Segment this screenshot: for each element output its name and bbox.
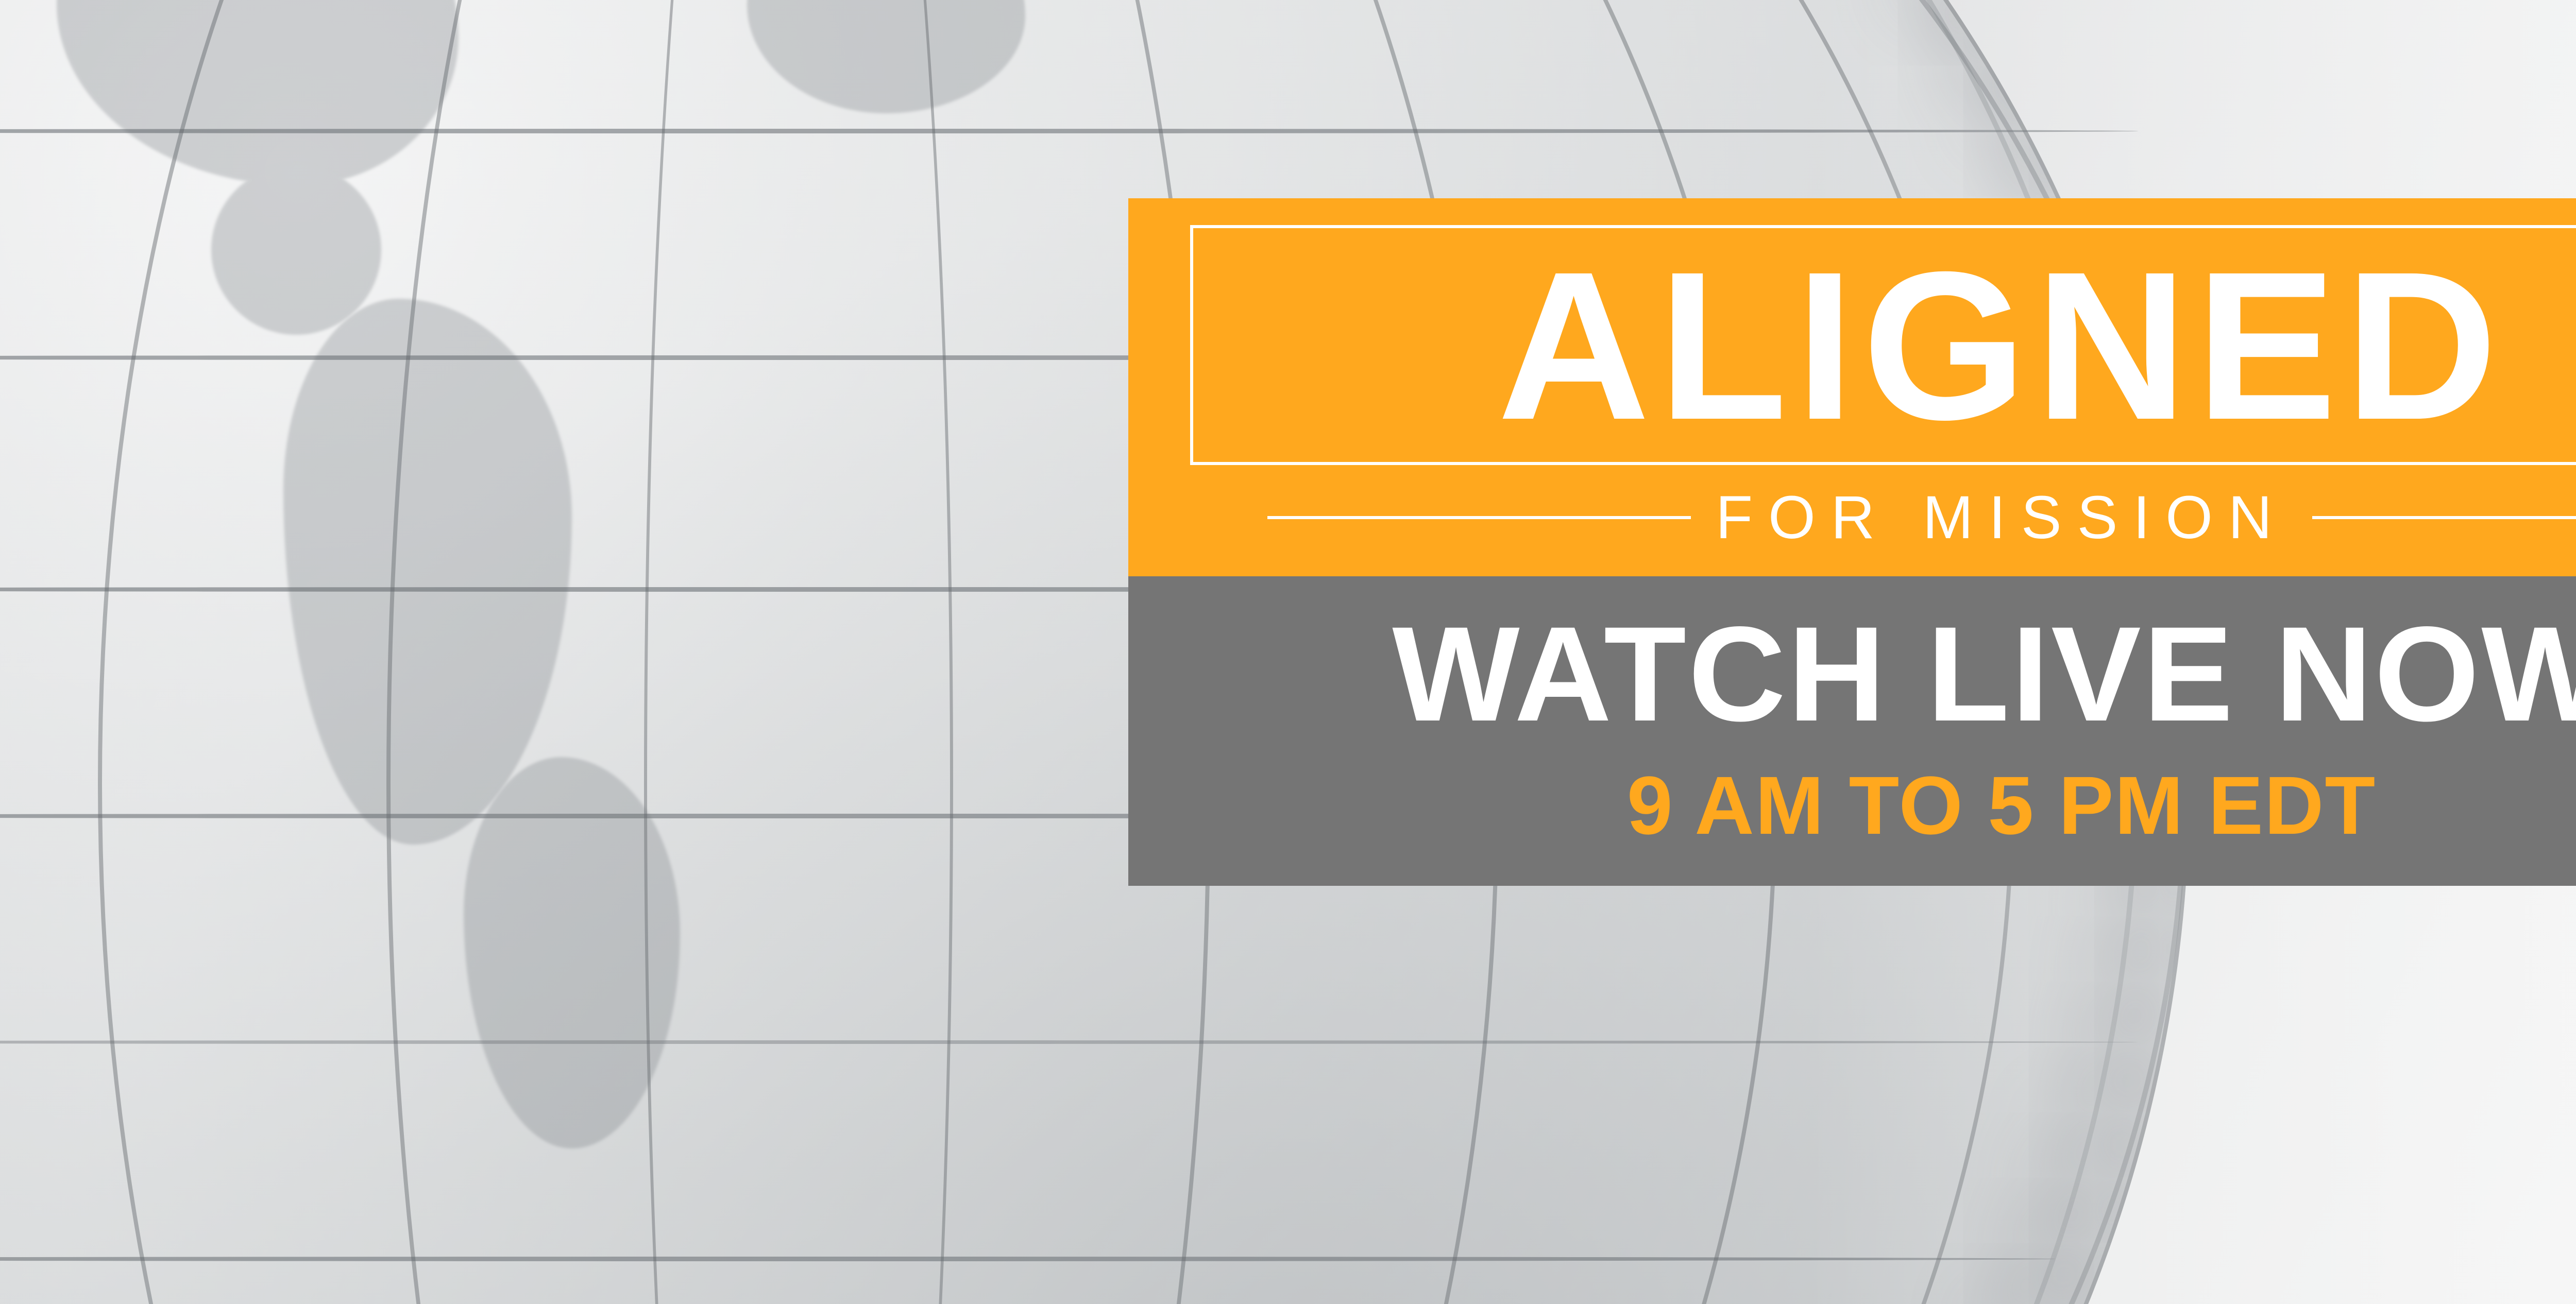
callout-panel[interactable]: WATCH LIVE NOW 9 AM TO 5 PM EDT xyxy=(1128,576,2576,886)
promo-card: ALIGNED FOR MISSION WATCH LIVE NOW 9 AM … xyxy=(1128,198,2576,886)
logo-frame: ALIGNED xyxy=(1190,225,2576,465)
brand-wordmark: ALIGNED xyxy=(1193,246,2576,447)
brand-tagline: FOR MISSION xyxy=(1691,483,2312,553)
event-banner: ALIGNED FOR MISSION WATCH LIVE NOW 9 AM … xyxy=(0,0,2576,1304)
tagline-rule-left xyxy=(1267,516,1691,519)
watch-live-headline[interactable]: WATCH LIVE NOW xyxy=(1128,603,2576,745)
tagline-row: FOR MISSION xyxy=(1267,483,2576,553)
tagline-rule-right xyxy=(2312,516,2576,519)
broadcast-time: 9 AM TO 5 PM EDT xyxy=(1128,758,2576,853)
logo-panel: ALIGNED FOR MISSION xyxy=(1128,198,2576,576)
